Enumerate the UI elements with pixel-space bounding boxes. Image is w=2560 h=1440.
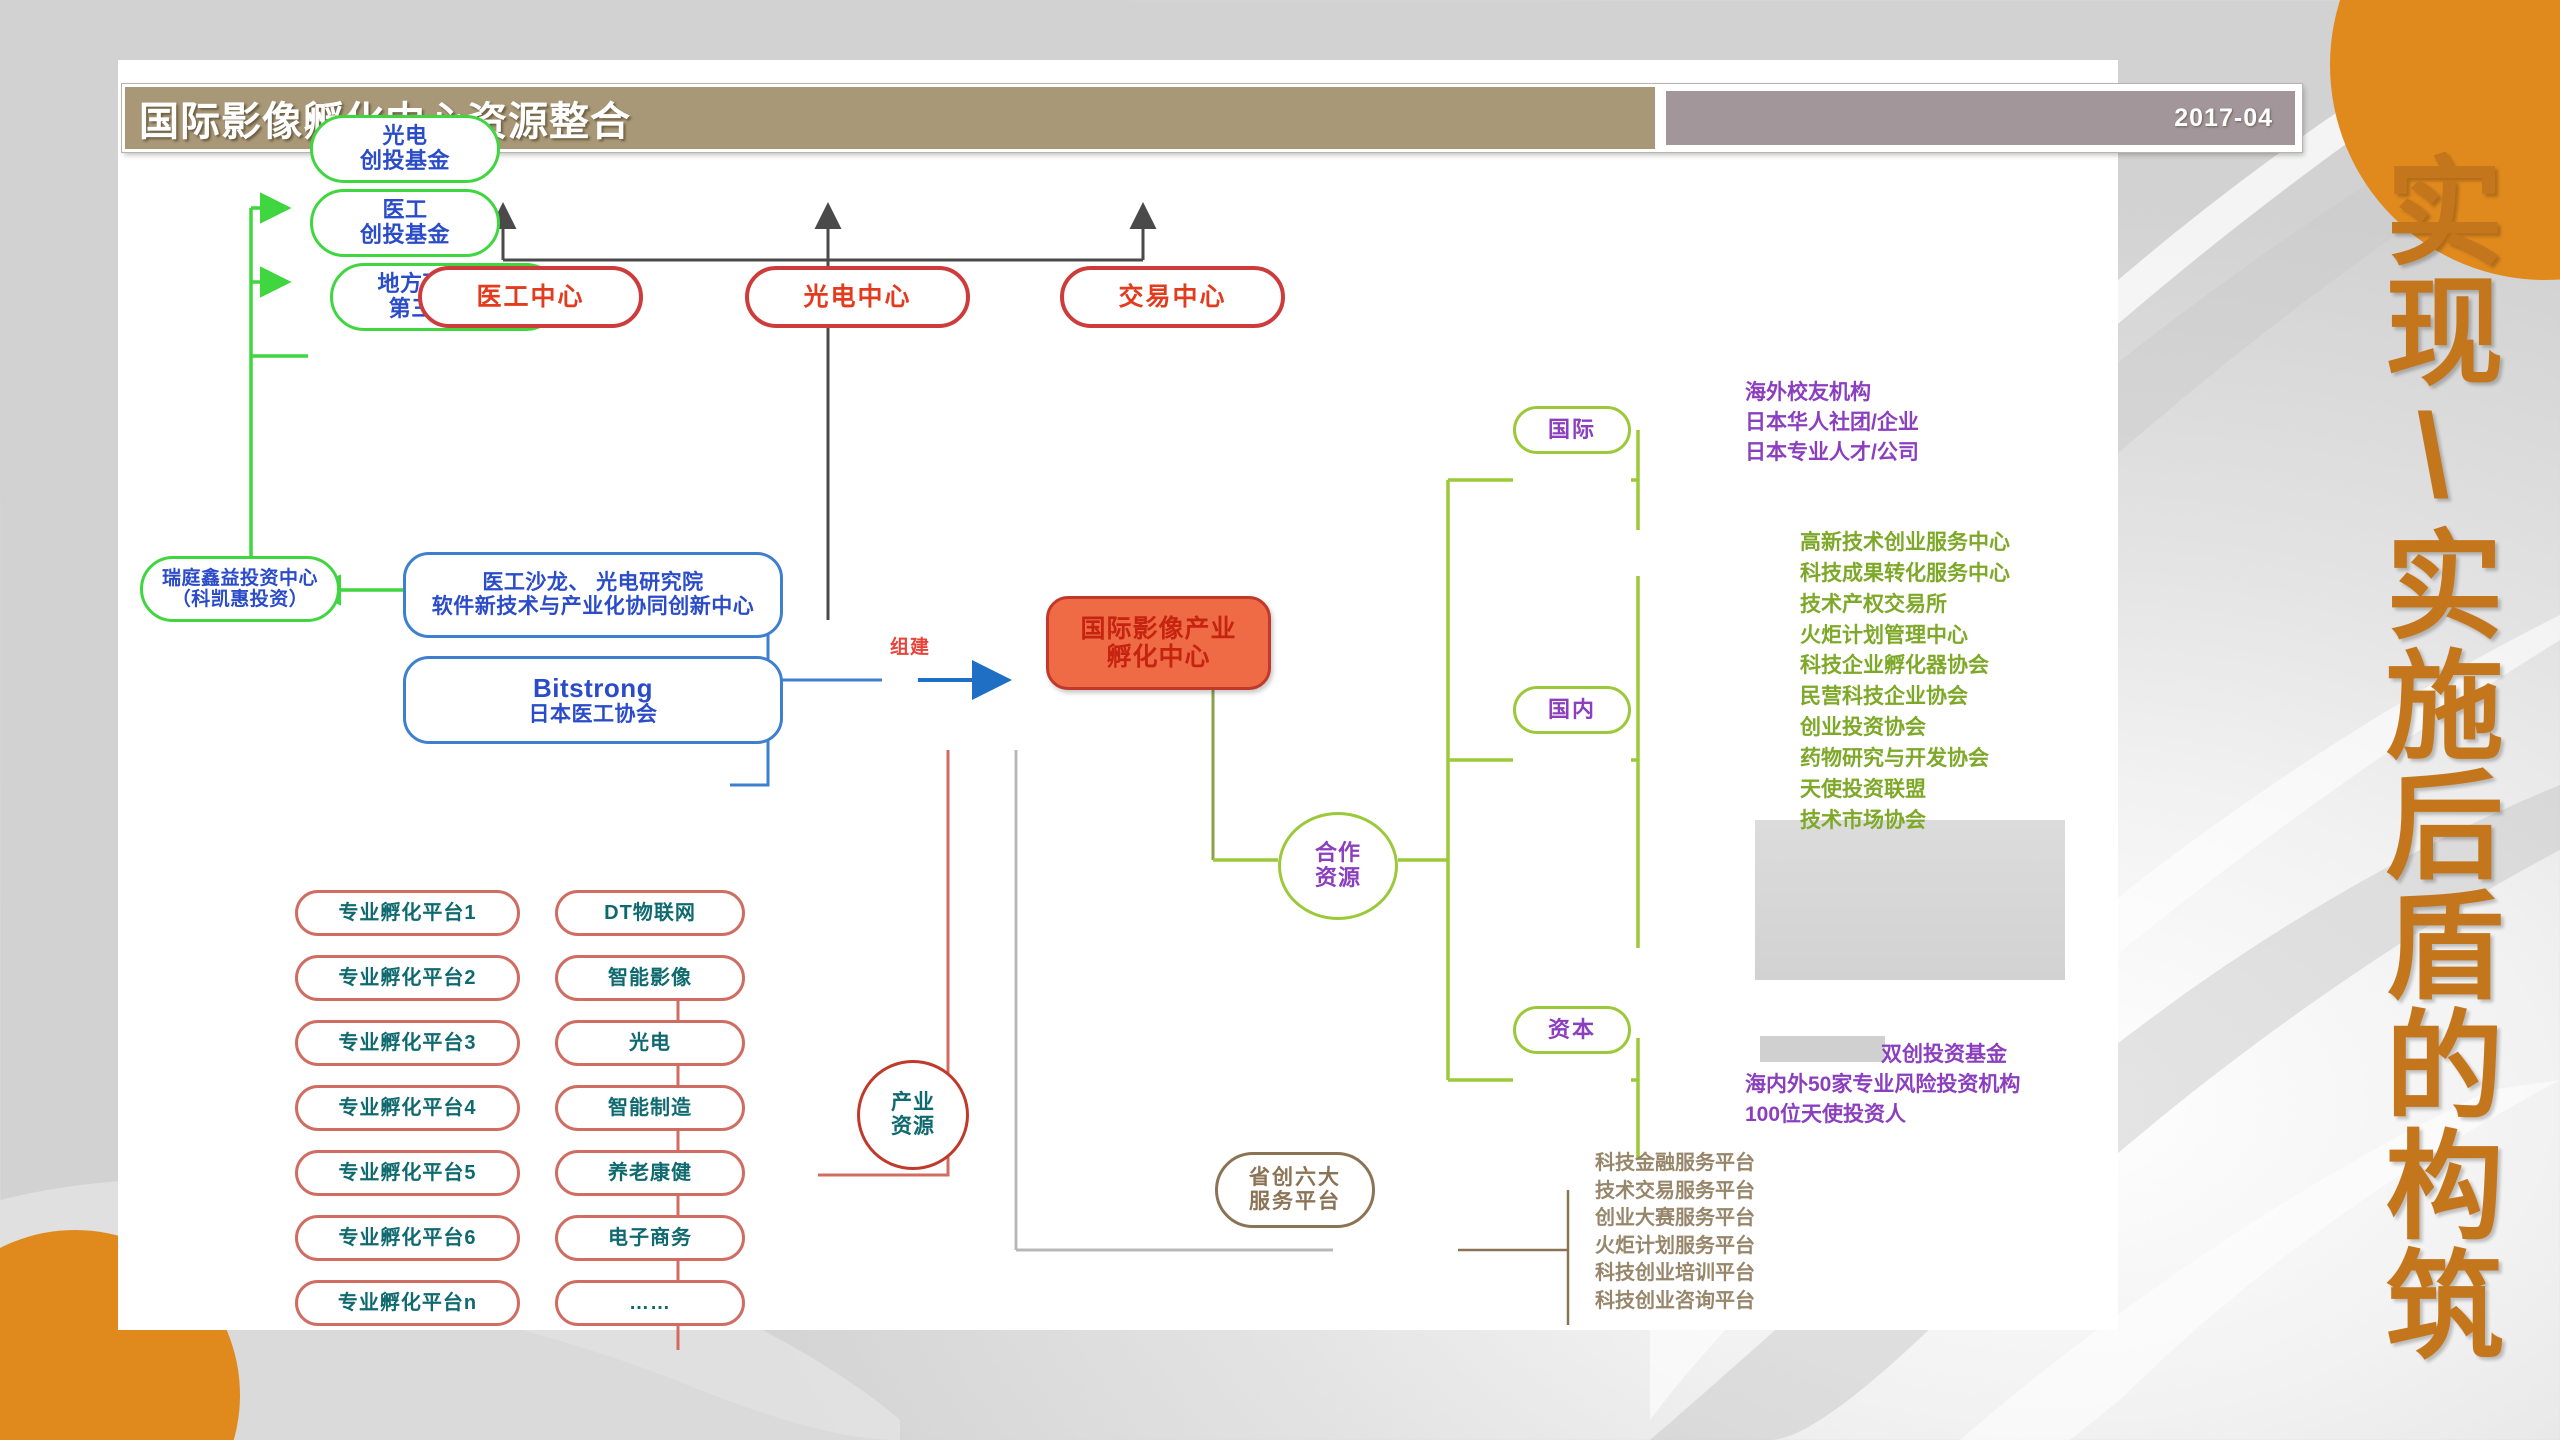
node-industry-domain-ecommerce[interactable]: 电子商务	[555, 1215, 745, 1261]
node-label: 专业孵化平台3	[338, 1032, 476, 1054]
node-industry-domain-optoelectronics[interactable]: 光电	[555, 1020, 745, 1066]
node-line-1: 医工沙龙、 光电研究院	[482, 571, 703, 595]
node-optoelectronic-center[interactable]: 光电中心	[745, 266, 970, 328]
node-line-2: 服务平台	[1249, 1190, 1341, 1214]
node-province-six-platforms[interactable]: 省创六大 服务平台	[1215, 1152, 1375, 1228]
node-label: 专业孵化平台n	[338, 1292, 477, 1314]
redaction-block-large	[1755, 820, 2065, 980]
list-international-items: 海外校友机构 日本华人社团/企业 日本专业人才/公司	[1745, 378, 1919, 467]
node-industry-domain-more[interactable]: ……	[555, 1280, 745, 1326]
node-line-2: 资源	[1315, 866, 1361, 891]
node-label: 资本	[1548, 1018, 1596, 1043]
list-item: 科技成果转化服务中心	[1800, 559, 2010, 590]
relation-label-organize: 组建	[888, 632, 932, 659]
node-line-1: 光电	[382, 124, 427, 149]
node-incubator-platform-5[interactable]: 专业孵化平台5	[295, 1150, 520, 1196]
node-line-1: 国际影像产业	[1080, 615, 1236, 643]
node-label: 电子商务	[608, 1227, 692, 1249]
node-industry-domain-smart-imaging[interactable]: 智能影像	[555, 955, 745, 1001]
node-branch-international[interactable]: 国际	[1513, 406, 1631, 454]
list-item: 火炬计划服务平台	[1595, 1233, 1755, 1261]
list-item: 民营科技企业协会	[1800, 682, 2010, 713]
node-label: DT物联网	[604, 902, 696, 924]
node-label: 医工中心	[476, 283, 584, 311]
node-line-2: 创投基金	[360, 149, 450, 174]
list-item: 天使投资联盟	[1800, 775, 2010, 806]
node-line-2: 孵化中心	[1106, 643, 1210, 671]
node-incubator-platform-4[interactable]: 专业孵化平台4	[295, 1085, 520, 1131]
node-label: 专业孵化平台1	[338, 902, 476, 924]
node-label: 光电中心	[803, 283, 911, 311]
node-trading-center[interactable]: 交易中心	[1060, 266, 1285, 328]
node-cooperation-resources[interactable]: 合作 资源	[1278, 812, 1398, 920]
list-item: 技术市场协会	[1800, 806, 2010, 837]
node-label: 专业孵化平台4	[338, 1097, 476, 1119]
node-label: ……	[629, 1292, 671, 1314]
node-medical-engineering-fund[interactable]: 医工 创投基金	[310, 189, 500, 257]
node-label: 专业孵化平台5	[338, 1162, 476, 1184]
list-item: 药物研究与开发协会	[1800, 744, 2010, 775]
node-incubator-platform-2[interactable]: 专业孵化平台2	[295, 955, 520, 1001]
list-item: 海外校友机构	[1745, 378, 1919, 408]
node-international-imaging-incubation-center[interactable]: 国际影像产业 孵化中心	[1046, 596, 1271, 690]
list-item: 海内外50家专业风险投资机构	[1745, 1070, 2020, 1100]
list-item: 创业投资协会	[1800, 713, 2010, 744]
node-label: 智能制造	[608, 1097, 692, 1119]
list-item: 科技金融服务平台	[1595, 1150, 1755, 1178]
list-item: 双创投资基金	[1745, 1040, 2020, 1070]
header-date: 2017-04	[2174, 104, 2273, 133]
node-bitstrong[interactable]: Bitstrong 日本医工协会	[403, 656, 783, 744]
node-line-1: 省创六大	[1249, 1166, 1341, 1190]
node-label: 智能影像	[608, 967, 692, 989]
node-medical-engineering-center[interactable]: 医工中心	[418, 266, 643, 328]
node-label: 专业孵化平台2	[338, 967, 476, 989]
node-label: 交易中心	[1118, 283, 1226, 311]
node-incubator-platform-3[interactable]: 专业孵化平台3	[295, 1020, 520, 1066]
list-domestic-items: 高新技术创业服务中心 科技成果转化服务中心 技术产权交易所 火炬计划管理中心 科…	[1800, 528, 2010, 837]
node-line-2: 软件新技术与产业化协同创新中心	[432, 595, 755, 619]
list-item: 火炬计划管理中心	[1800, 621, 2010, 652]
node-incubator-platform-n[interactable]: 专业孵化平台n	[295, 1280, 520, 1326]
node-label: 国际	[1548, 418, 1596, 443]
node-branch-domestic[interactable]: 国内	[1513, 686, 1631, 734]
node-line-2: 资源	[891, 1115, 935, 1139]
node-label: 专业孵化平台6	[338, 1227, 476, 1249]
list-item: 科技创业培训平台	[1595, 1260, 1755, 1288]
list-item: 高新技术创业服务中心	[1800, 528, 2010, 559]
list-item: 技术产权交易所	[1800, 590, 2010, 621]
node-industry-domain-dt-iot[interactable]: DT物联网	[555, 890, 745, 936]
list-capital-items: 双创投资基金 海内外50家专业风险投资机构 100位天使投资人	[1745, 1040, 2020, 1129]
node-label: 国内	[1548, 698, 1596, 723]
node-incubator-platform-1[interactable]: 专业孵化平台1	[295, 890, 520, 936]
node-investment-center[interactable]: 瑞庭鑫益投资中心 （科凯惠投资）	[140, 556, 340, 622]
node-line-1: 医工	[382, 198, 427, 223]
node-line-1: Bitstrong	[533, 674, 653, 703]
list-item: 创业大赛服务平台	[1595, 1205, 1755, 1233]
node-label: 光电	[629, 1032, 671, 1054]
list-item: 日本华人社团/企业	[1745, 408, 1919, 438]
node-line-2: 日本医工协会	[529, 703, 658, 727]
node-industry-resources[interactable]: 产业 资源	[857, 1060, 969, 1170]
list-item: 科技企业孵化器协会	[1800, 651, 2010, 682]
list-item: 技术交易服务平台	[1595, 1178, 1755, 1206]
vertical-slide-title: 实现\实施后盾的构筑	[2300, 150, 2490, 1410]
node-line-1: 产业	[891, 1091, 935, 1115]
list-item: 100位天使投资人	[1745, 1100, 2020, 1130]
node-optoelectronic-fund[interactable]: 光电 创投基金	[310, 115, 500, 183]
node-branch-capital[interactable]: 资本	[1513, 1006, 1631, 1054]
node-label: 养老康健	[608, 1162, 692, 1184]
node-line-2: （科凯惠投资）	[172, 589, 309, 610]
node-line-2: 创投基金	[360, 223, 450, 248]
node-industry-domain-smart-manufacturing[interactable]: 智能制造	[555, 1085, 745, 1131]
node-line-1: 瑞庭鑫益投资中心	[162, 568, 318, 589]
node-line-1: 合作	[1315, 841, 1361, 866]
list-province-platform-items: 科技金融服务平台 技术交易服务平台 创业大赛服务平台 火炬计划服务平台 科技创业…	[1595, 1150, 1755, 1316]
list-item: 科技创业咨询平台	[1595, 1288, 1755, 1316]
node-medical-salon-research[interactable]: 医工沙龙、 光电研究院 软件新技术与产业化协同创新中心	[403, 552, 783, 638]
node-incubator-platform-6[interactable]: 专业孵化平台6	[295, 1215, 520, 1261]
node-industry-domain-elderly-health[interactable]: 养老康健	[555, 1150, 745, 1196]
list-item: 日本专业人才/公司	[1745, 438, 1919, 468]
